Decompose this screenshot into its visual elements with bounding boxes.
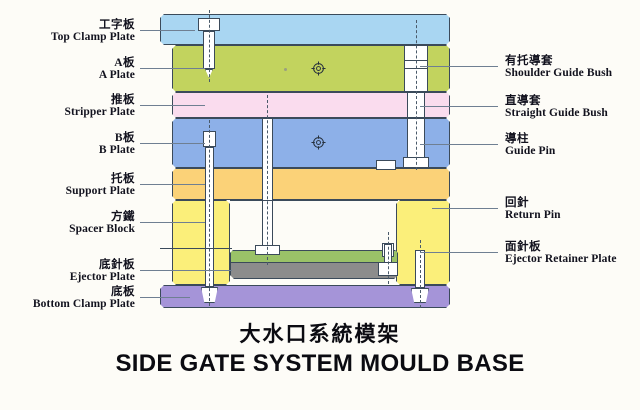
label-straight-guide-bush-en: Straight Guide Bush	[505, 107, 608, 119]
label-ejector-plate-cn: 底針板	[70, 259, 135, 271]
label-return-pin: 回針 Return Pin	[505, 197, 561, 222]
leader-shoulder-guide-bush	[420, 66, 498, 67]
label-top-clamp-plate: 工字板 Top Clamp Plate	[51, 19, 135, 44]
label-return-pin-cn: 回針	[505, 197, 561, 209]
label-a-plate: A板 A Plate	[99, 57, 135, 82]
label-ejector-retainer-plate: 面針板 Ejector Retainer Plate	[505, 241, 617, 266]
leader-ejector-plate	[140, 270, 232, 271]
leader-support-plate	[140, 184, 205, 185]
label-b-plate-cn: B板	[99, 132, 135, 144]
label-spacer-block-en: Spacer Block	[69, 223, 135, 235]
leader-guide-pin	[420, 144, 498, 145]
label-ejector-retainer-plate-cn: 面針板	[505, 241, 617, 253]
leader-a-plate	[140, 68, 205, 69]
leader-return-pin	[432, 208, 498, 209]
label-shoulder-guide-bush-cn: 有托導套	[505, 55, 612, 67]
leader-top-clamp-plate	[140, 30, 195, 31]
label-b-plate-en: B Plate	[99, 144, 135, 156]
label-return-pin-en: Return Pin	[505, 209, 561, 221]
guide-pin-centerline	[416, 20, 417, 170]
leader-bottom-clamp-plate	[140, 297, 190, 298]
plate-ejector	[230, 262, 398, 279]
label-a-plate-cn: A板	[99, 57, 135, 69]
crosshair-target-icon	[311, 135, 326, 150]
label-support-plate-cn: 托板	[66, 173, 135, 185]
crosshair-target-icon	[311, 61, 326, 76]
label-ejector-plate: 底針板 Ejector Plate	[70, 259, 135, 284]
cavity-edge-line-2	[160, 248, 232, 249]
label-guide-pin-cn: 導柱	[505, 133, 555, 145]
leader-spacer-block	[140, 222, 205, 223]
title-english: SIDE GATE SYSTEM MOULD BASE	[0, 350, 640, 378]
label-ejector-plate-en: Ejector Plate	[70, 271, 135, 283]
page-title: 大水口系統模架 SIDE GATE SYSTEM MOULD BASE	[0, 318, 640, 378]
cavity-edge-line-1	[230, 200, 398, 201]
label-stripper-plate: 推板 Stripper Plate	[65, 94, 136, 119]
bottom-bolt-centerline	[420, 240, 421, 308]
label-top-clamp-plate-cn: 工字板	[51, 19, 135, 31]
center-sleeve-centerline	[267, 95, 268, 265]
label-bottom-clamp-plate: 底板 Bottom Clamp Plate	[33, 286, 135, 311]
label-spacer-block-cn: 方鐵	[69, 211, 135, 223]
label-stripper-plate-cn: 推板	[65, 94, 136, 106]
ejector-pin-centerline-left	[209, 120, 210, 306]
label-top-clamp-plate-en: Top Clamp Plate	[51, 31, 135, 43]
label-support-plate-en: Support Plate	[66, 185, 135, 197]
leader-straight-guide-bush	[420, 106, 498, 107]
leader-b-plate	[140, 143, 205, 144]
label-support-plate: 托板 Support Plate	[66, 173, 135, 198]
return-pin-centerline	[388, 232, 389, 284]
label-guide-pin: 導柱 Guide Pin	[505, 133, 555, 158]
spacer-block-left	[172, 200, 230, 285]
leader-ejector-retainer-plate	[420, 252, 498, 253]
label-straight-guide-bush: 直導套 Straight Guide Bush	[505, 95, 608, 120]
label-stripper-plate-en: Stripper Plate	[65, 106, 136, 118]
label-bottom-clamp-plate-cn: 底板	[33, 286, 135, 298]
mould-base-diagram-page: 工字板 Top Clamp Plate A板 A Plate 推板 Stripp…	[0, 0, 640, 410]
title-chinese: 大水口系統模架	[0, 318, 640, 348]
label-guide-pin-en: Guide Pin	[505, 145, 555, 157]
label-straight-guide-bush-cn: 直導套	[505, 95, 608, 107]
label-shoulder-guide-bush: 有托導套 Shoulder Guide Bush	[505, 55, 612, 80]
label-spacer-block: 方鐵 Spacer Block	[69, 211, 135, 236]
label-ejector-retainer-plate-en: Ejector Retainer Plate	[505, 253, 617, 265]
top-bolt-centerline	[209, 10, 210, 82]
label-a-plate-en: A Plate	[99, 69, 135, 81]
label-bottom-clamp-plate-en: Bottom Clamp Plate	[33, 298, 135, 310]
leader-stripper-plate	[140, 105, 205, 106]
right-column-bolt	[376, 160, 396, 170]
label-b-plate: B板 B Plate	[99, 132, 135, 157]
label-shoulder-guide-bush-en: Shoulder Guide Bush	[505, 67, 612, 79]
speck-mark	[284, 68, 287, 71]
